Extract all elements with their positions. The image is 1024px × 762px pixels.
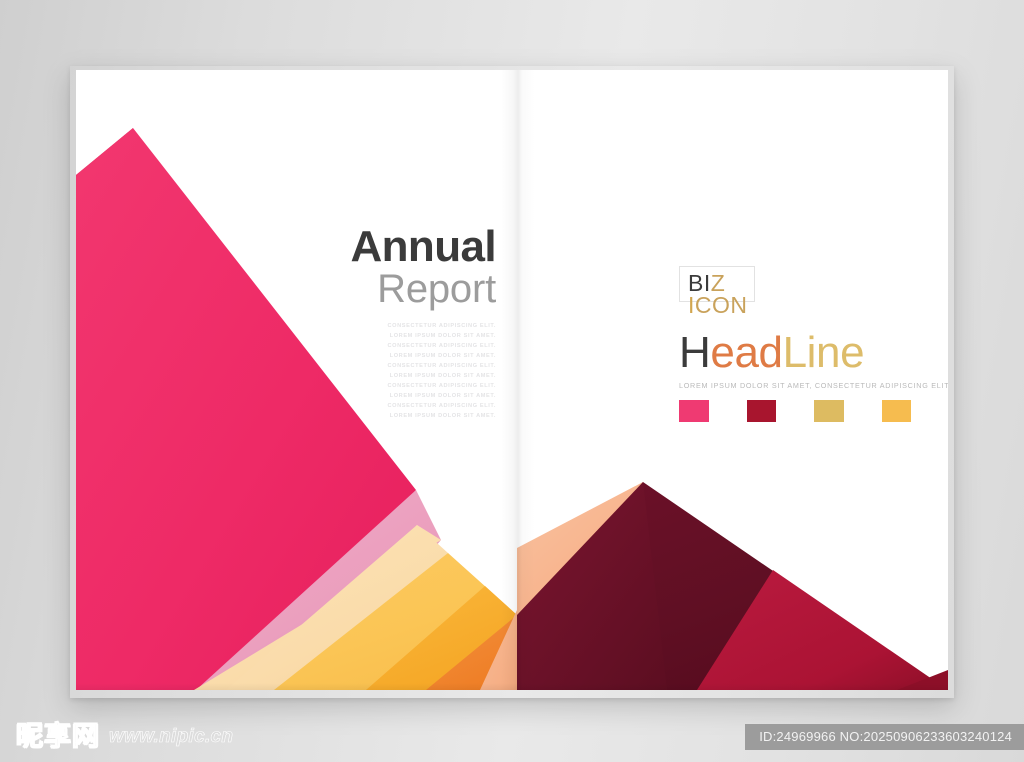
left-page-text-block: Annual Report CONSECTETUR ADIPISCING ELI… [176,225,496,422]
watermark: 昵享网 www.nipic.cn [16,722,233,752]
page-title-annual: Annual [176,225,496,270]
brochure-spread: Annual Report CONSECTETUR ADIPISCING ELI… [76,70,948,690]
lorem-line: CONSECTETUR ADIPISCING ELIT. [176,382,496,392]
lorem-line: LOREM IPSUM DOLOR SIT AMET. [176,352,496,362]
headline-part-ead: ead [710,328,782,377]
logo-line-icon: ICON [688,293,748,318]
headline-subtitle: LOREM IPSUM DOLOR SIT AMET, CONSECTETUR … [679,381,948,390]
watermark-url: www.nipic.cn [109,726,233,748]
lorem-line: CONSECTETUR ADIPISCING ELIT. [176,342,496,352]
lorem-line: CONSECTETUR ADIPISCING ELIT. [176,402,496,412]
screenshot-canvas: Annual Report CONSECTETUR ADIPISCING ELI… [0,0,1024,762]
biz-icon-logo: BIZ ICON [679,266,755,302]
lorem-line: LOREM IPSUM DOLOR SIT AMET. [176,332,496,342]
lorem-paragraph: CONSECTETUR ADIPISCING ELIT. LOREM IPSUM… [176,322,496,422]
headline: HeadLine [679,330,948,376]
lorem-line: CONSECTETUR ADIPISCING ELIT. [176,362,496,372]
logo-letters-con: CON [695,292,748,318]
lorem-line: CONSECTETUR ADIPISCING ELIT. [176,322,496,332]
page-title-report: Report [176,268,496,311]
left-page: Annual Report CONSECTETUR ADIPISCING ELI… [76,70,517,690]
swatch-tan [814,400,844,422]
logo-bar-i: I [688,292,695,318]
lorem-line: LOREM IPSUM DOLOR SIT AMET. [176,372,496,382]
swatch-yellow [882,400,912,422]
headline-part-h: H [679,328,710,377]
watermark-brand-cn: 昵享网 [16,722,100,752]
right-page-text-block: BIZ ICON HeadLine LOREM IPSUM DOLOR SIT … [679,266,948,422]
swatch-pink [679,400,709,422]
swatch-crimson [747,400,777,422]
lorem-line: LOREM IPSUM DOLOR SIT AMET. [176,412,496,422]
lorem-line: LOREM IPSUM DOLOR SIT AMET. [176,392,496,402]
right-page: BIZ ICON HeadLine LOREM IPSUM DOLOR SIT … [517,70,948,690]
headline-part-line: Line [783,328,865,377]
color-swatch-row [679,400,948,422]
id-bar: ID:24969966 NO:20250906233603240124 [745,724,1024,750]
